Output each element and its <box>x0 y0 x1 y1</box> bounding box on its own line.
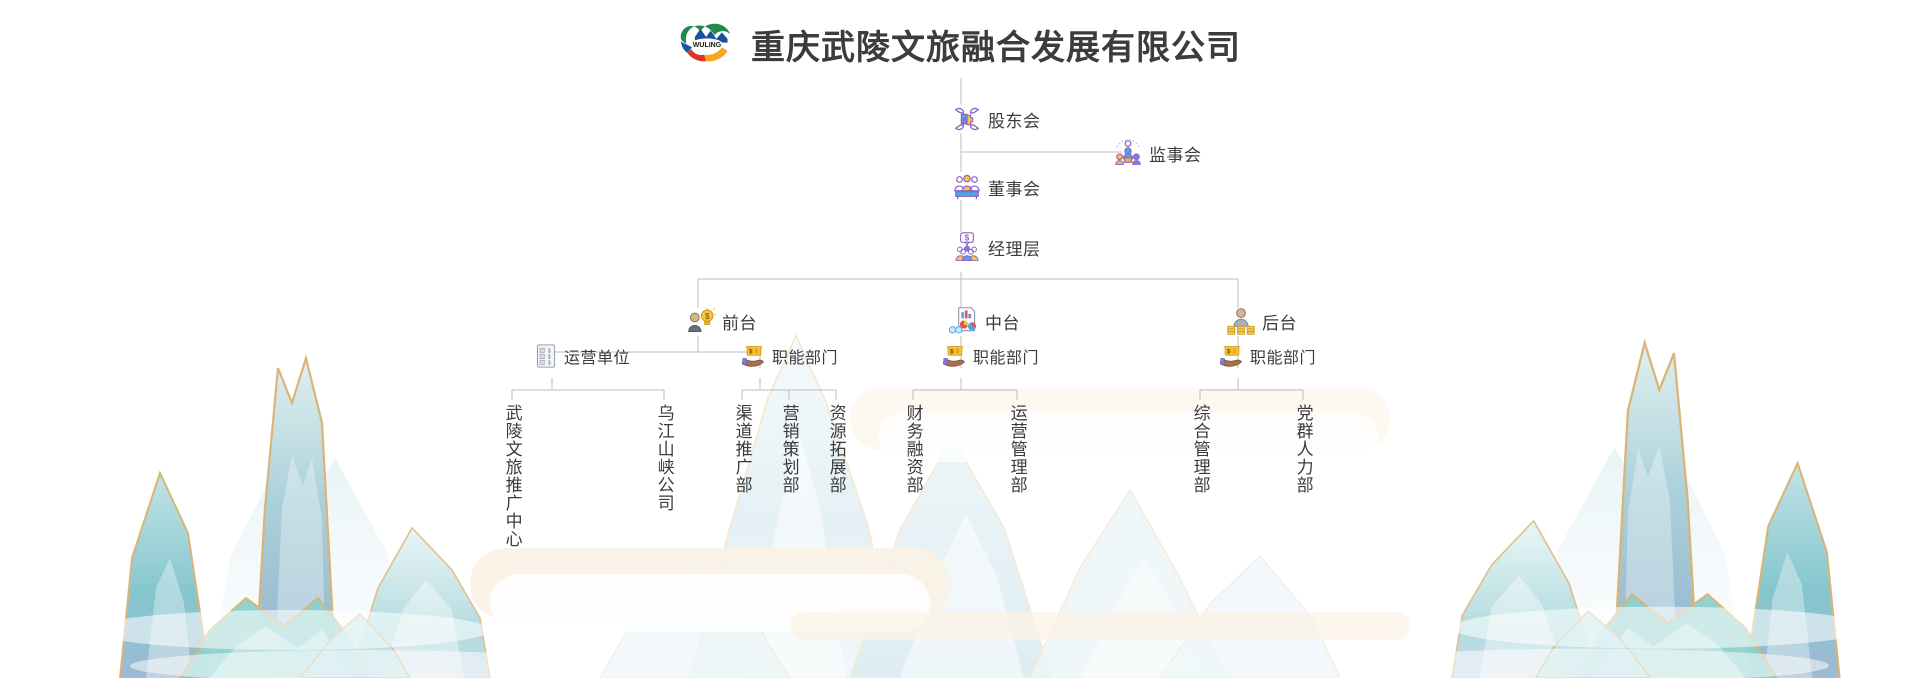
node-label: 董事会 <box>988 175 1041 200</box>
page-header: WULING 重庆武陵文旅融合发展有限公司 <box>0 18 1920 70</box>
org-connector-lines <box>0 0 1920 678</box>
node-functional-dept-middle[interactable]: $ 职能部门 <box>943 344 1039 368</box>
node-label: 后台 <box>1262 309 1297 334</box>
money-hand-icon: $ <box>1220 344 1244 368</box>
manager-money-icon: $ <box>952 232 982 262</box>
data-report-icon <box>949 306 979 336</box>
node-label: 经理层 <box>988 235 1041 260</box>
leaf-finance-funding-dept[interactable]: 财务融资部 <box>904 404 922 494</box>
wuling-logo-icon: WULING <box>679 18 735 70</box>
node-functional-dept-back[interactable]: $ 职能部门 <box>1220 344 1316 368</box>
node-label: 监事会 <box>1149 141 1202 166</box>
svg-text:$: $ <box>548 355 551 361</box>
node-front-office[interactable]: $ 前台 <box>686 306 757 336</box>
node-label: 中台 <box>985 309 1020 334</box>
node-operating-unit[interactable]: $ $ $ 运营单位 <box>534 344 630 368</box>
idea-person-icon: $ <box>686 306 716 336</box>
node-label: 运营单位 <box>564 344 630 368</box>
leaf-party-hr-dept[interactable]: 党群人力部 <box>1294 404 1312 494</box>
leaf-wuling-promotion-center[interactable]: 武陵文旅推广中心 <box>503 404 521 548</box>
money-hand-icon: $ <box>742 344 766 368</box>
node-board-of-directors[interactable]: 董事会 <box>952 172 1041 202</box>
leaf-general-management-dept[interactable]: 综合管理部 <box>1191 404 1209 494</box>
node-back-office[interactable]: 后台 <box>1226 306 1297 336</box>
mountain-illustration-right <box>1350 238 1910 678</box>
node-label: 股东会 <box>988 107 1041 132</box>
board-meeting-icon <box>952 172 982 202</box>
svg-text:$: $ <box>965 234 970 243</box>
node-middle-office[interactable]: 中台 <box>949 306 1020 336</box>
node-label: 前台 <box>722 309 757 334</box>
leaf-wujiang-gorge-company[interactable]: 乌江山峡公司 <box>655 404 673 512</box>
mountain-illustration-left <box>60 258 580 678</box>
node-label: 职能部门 <box>772 344 838 368</box>
mountain-illustration-center <box>600 278 1340 678</box>
leaf-operations-management-dept[interactable]: 运营管理部 <box>1008 404 1026 494</box>
finance-person-icon <box>1226 306 1256 336</box>
org-chart-page: WULING 重庆武陵文旅融合发展有限公司 股东会 监 <box>0 0 1920 678</box>
checklist-icon: $ $ $ <box>534 344 558 368</box>
leaf-marketing-planning-dept[interactable]: 营销策划部 <box>780 404 798 494</box>
svg-text:$: $ <box>548 349 551 355</box>
leaf-resource-development-dept[interactable]: 资源拓展部 <box>827 404 845 494</box>
node-supervisors[interactable]: 监事会 <box>1113 138 1202 168</box>
logo-wordmark: WULING <box>693 42 722 49</box>
svg-text:$: $ <box>705 312 710 321</box>
money-hand-icon: $ <box>943 344 967 368</box>
node-management[interactable]: $ 经理层 <box>952 232 1041 262</box>
node-functional-dept-front[interactable]: $ 职能部门 <box>742 344 838 368</box>
cloud-ribbon-decoration <box>430 368 1490 668</box>
leaf-channel-promotion-dept[interactable]: 渠道推广部 <box>733 404 751 494</box>
node-shareholders[interactable]: 股东会 <box>952 104 1041 134</box>
node-label: 职能部门 <box>1250 344 1316 368</box>
puzzle-people-icon <box>952 104 982 134</box>
supervisors-icon <box>1113 138 1143 168</box>
svg-text:$: $ <box>548 361 551 367</box>
node-label: 职能部门 <box>973 344 1039 368</box>
page-title: 重庆武陵文旅融合发展有限公司 <box>751 20 1241 69</box>
